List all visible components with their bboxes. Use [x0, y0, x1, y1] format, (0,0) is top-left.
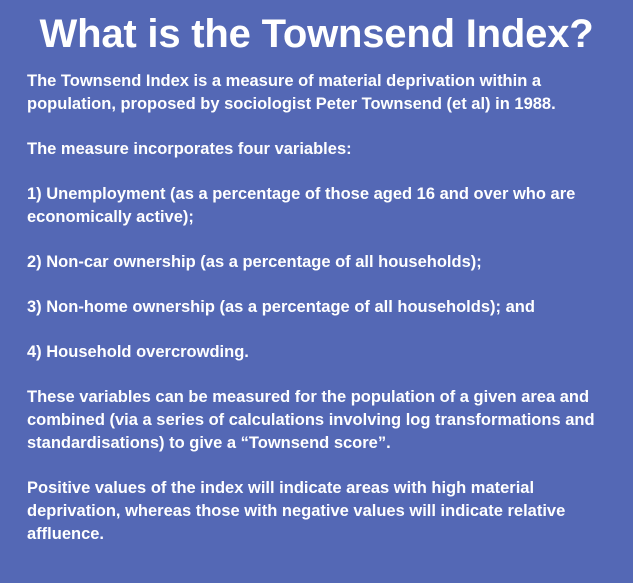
paragraph-interpretation: Positive values of the index will indica… — [27, 477, 609, 546]
slide-container: What is the Townsend Index? The Townsend… — [0, 0, 633, 583]
list-item-variable-3: 3) Non-home ownership (as a percentage o… — [27, 296, 609, 319]
paragraph-variables-intro: The measure incorporates four variables: — [27, 138, 609, 161]
page-title: What is the Townsend Index? — [0, 0, 633, 60]
slide-body: The Townsend Index is a measure of mater… — [0, 60, 633, 546]
paragraph-combination-method: These variables can be measured for the … — [27, 386, 609, 455]
paragraph-definition: The Townsend Index is a measure of mater… — [27, 70, 609, 116]
list-item-variable-1: 1) Unemployment (as a percentage of thos… — [27, 183, 609, 229]
list-item-variable-2: 2) Non-car ownership (as a percentage of… — [27, 251, 609, 274]
list-item-variable-4: 4) Household overcrowding. — [27, 341, 609, 364]
